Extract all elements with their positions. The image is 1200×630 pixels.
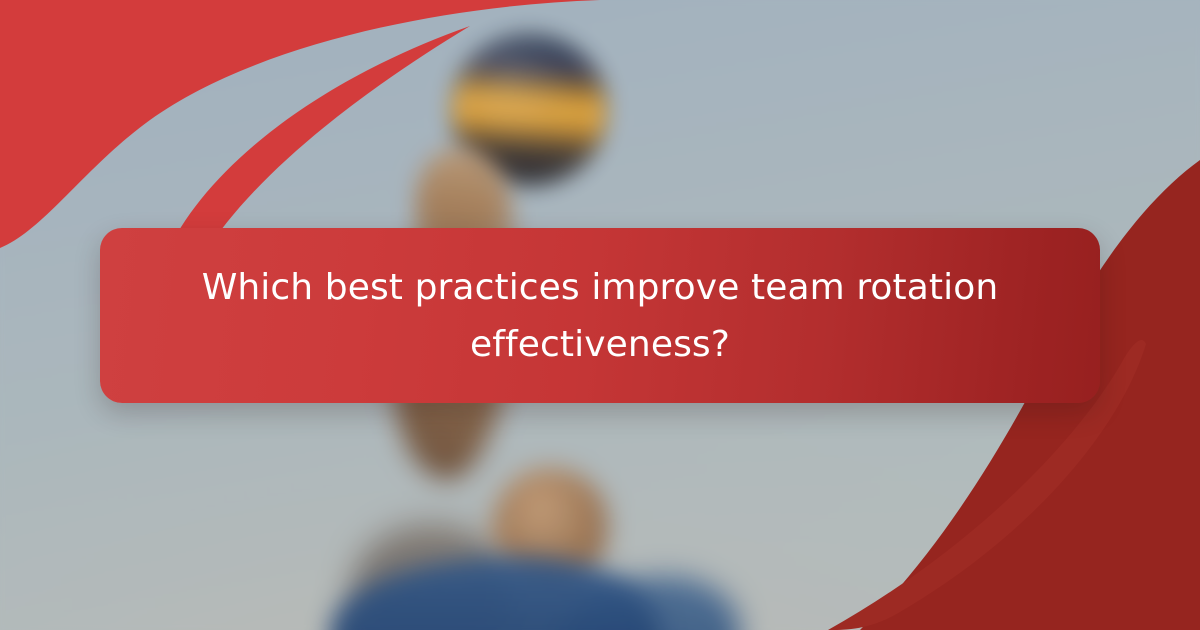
question-banner: Which best practices improve team rotati… [100, 228, 1100, 403]
question-text: Which best practices improve team rotati… [170, 259, 1030, 373]
share-card: Which best practices improve team rotati… [0, 0, 1200, 630]
